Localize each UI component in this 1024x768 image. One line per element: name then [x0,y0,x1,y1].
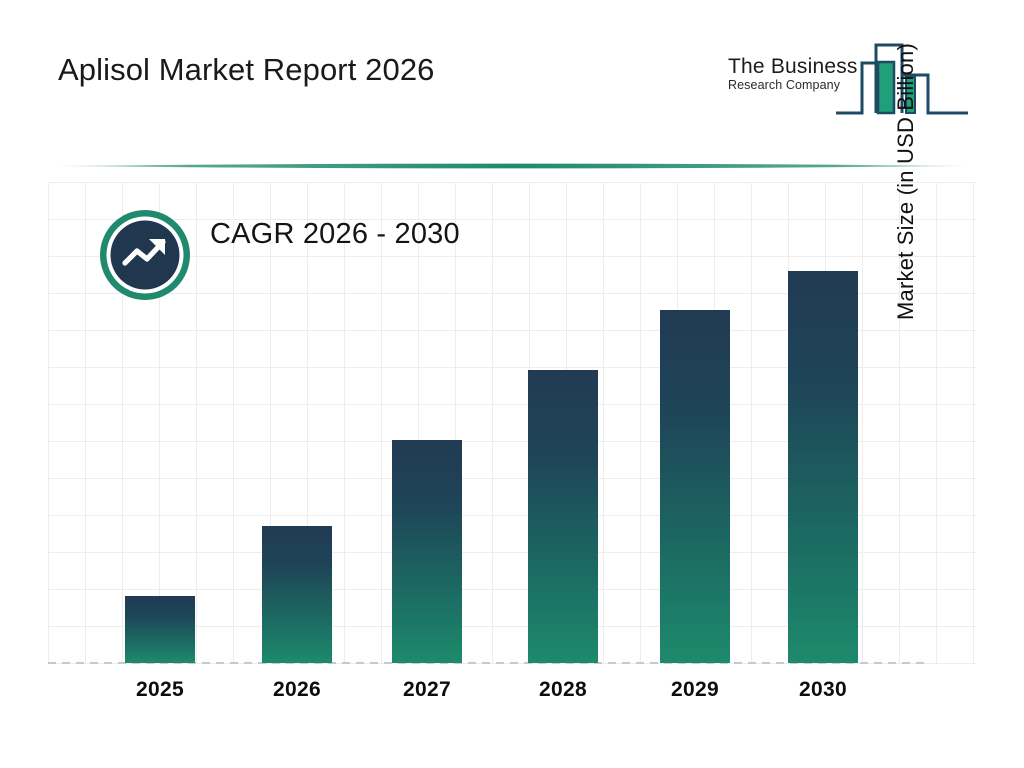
gridline-vertical [85,182,86,664]
chart-bar [528,370,598,663]
gridline-vertical [233,182,234,664]
gridline-vertical [381,182,382,664]
gridline-horizontal [48,182,976,183]
chart-bar [262,526,332,663]
x-axis-tick-label: 2029 [640,678,750,702]
chart-bar [788,271,858,663]
x-axis-tick-label: 2025 [105,678,215,702]
chart-y-axis-label: Market Size (in USD Billion) [893,0,919,320]
chart-bar [392,440,462,663]
gridline-vertical [936,182,937,664]
x-axis-tick-label: 2030 [768,678,878,702]
gridline-vertical [640,182,641,664]
market-size-bar-chart: 202520262027202820292030 Market Size (in… [0,0,1024,768]
chart-bar [660,310,730,663]
x-axis-tick-label: 2028 [508,678,618,702]
gridline-vertical [196,182,197,664]
gridline-vertical [344,182,345,664]
chart-bar [125,596,195,663]
gridline-vertical [603,182,604,664]
cagr-badge-icon [95,205,195,305]
gridline-vertical [862,182,863,664]
x-axis-tick-label: 2027 [372,678,482,702]
gridline-vertical [751,182,752,664]
gridline-vertical [492,182,493,664]
gridline-vertical [48,182,49,664]
gridline-vertical [973,182,974,664]
cagr-label: CAGR 2026 - 2030 [210,218,460,251]
x-axis-tick-label: 2026 [242,678,352,702]
